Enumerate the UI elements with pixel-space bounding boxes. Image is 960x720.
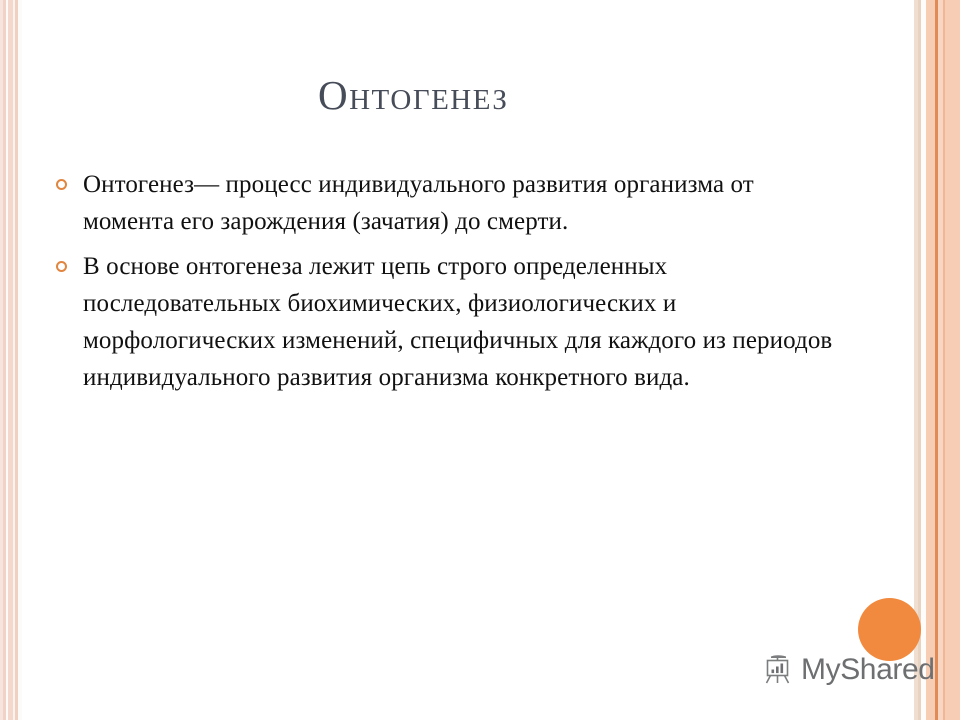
bullet-item: Онтогенез— процесс индивидуального разви…	[56, 166, 856, 240]
bullet-text: В основе онтогенеза лежит цепь строго оп…	[83, 248, 833, 396]
watermark-brand: MyShared	[762, 654, 935, 686]
watermark: MyShared	[762, 596, 952, 702]
slide-body: Онтогенез— процесс индивидуального разви…	[56, 166, 856, 404]
orange-circle-decoration	[858, 598, 921, 661]
left-stripe-7	[18, 0, 22, 720]
bullet-text: Онтогенез— процесс индивидуального разви…	[83, 166, 783, 240]
left-stripe-4	[8, 0, 13, 720]
bullet-item: В основе онтогенеза лежит цепь строго оп…	[56, 248, 856, 396]
ring-bullet-icon	[56, 179, 67, 190]
presentation-chart-icon	[762, 654, 796, 686]
left-stripe-2	[3, 0, 6, 720]
left-border-decoration	[0, 0, 22, 720]
slide-canvas: Онтогенез Онтогенез— процесс индивидуаль…	[0, 0, 960, 720]
watermark-label: MyShared	[801, 655, 935, 685]
left-stripe-1	[0, 0, 3, 720]
ring-bullet-icon	[56, 261, 67, 272]
left-stripe-6	[15, 0, 18, 720]
left-stripe-3	[6, 0, 8, 720]
slide-title: Онтогенез	[318, 74, 508, 117]
left-stripe-5	[13, 0, 15, 720]
